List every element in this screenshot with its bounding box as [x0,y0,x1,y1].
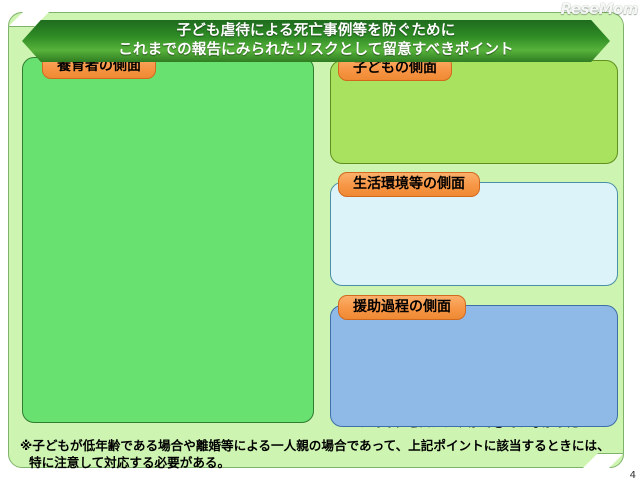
footnote-line-2: 特に注意して対応する必要がある。 [20,455,620,472]
box-support-process [330,305,618,427]
slide-canvas: 子ども虐待による死亡事例等を防ぐために これまでの報告にみられたリスクとして留意… [0,0,640,482]
footnote: ※子どもが低年齢である場合や離婚等による一人親の場合であって、上記ポイントに該当… [20,438,620,471]
tab-living-environment[interactable]: 生活環境等の側面 [338,172,480,197]
page-number: 4 [630,470,636,481]
title-banner: 子ども虐待による死亡事例等を防ぐために これまでの報告にみられたリスクとして留意… [22,20,610,62]
tab-support-process[interactable]: 援助過程の側面 [338,295,466,320]
title-line-2: これまでの報告にみられたリスクとして留意すべきポイント [118,41,513,60]
box-living-environment [330,182,618,286]
footnote-line-1: ※子どもが低年齢である場合や離婚等による一人親の場合であって、上記ポイントに該当… [20,438,620,455]
title-line-1: 子ども虐待による死亡事例等を防ぐために [177,22,456,41]
box-caregiver [22,57,314,423]
